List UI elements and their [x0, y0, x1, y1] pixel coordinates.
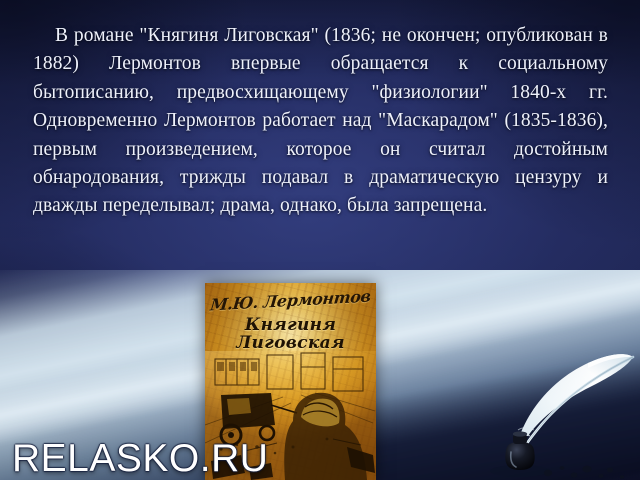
site-watermark: RELASKO.RU: [12, 437, 268, 480]
book-title-line-1: Княгиня: [205, 316, 376, 334]
ink-drop: [560, 466, 565, 470]
ink-drop: [620, 475, 624, 478]
presentation-slide: В романе "Княгиня Лиговская" (1836; не о…: [0, 0, 640, 480]
slide-body-text: В романе "Княгиня Лиговская" (1836; не о…: [33, 22, 608, 221]
book-title-line-2: Лиговская: [205, 334, 376, 352]
body-paragraph: В романе "Княгиня Лиговская" (1836; не о…: [33, 22, 608, 221]
ink-drop: [571, 472, 578, 477]
ink-drop: [544, 470, 552, 476]
ink-drop: [582, 466, 591, 473]
inkwell-icon: [505, 442, 534, 470]
quill-and-inkwell: [470, 330, 640, 480]
book-title: Княгиня Лиговская: [205, 316, 376, 352]
ink-drop: [607, 468, 613, 473]
ink-drop: [598, 474, 603, 478]
quill-pen-icon: [470, 330, 640, 480]
